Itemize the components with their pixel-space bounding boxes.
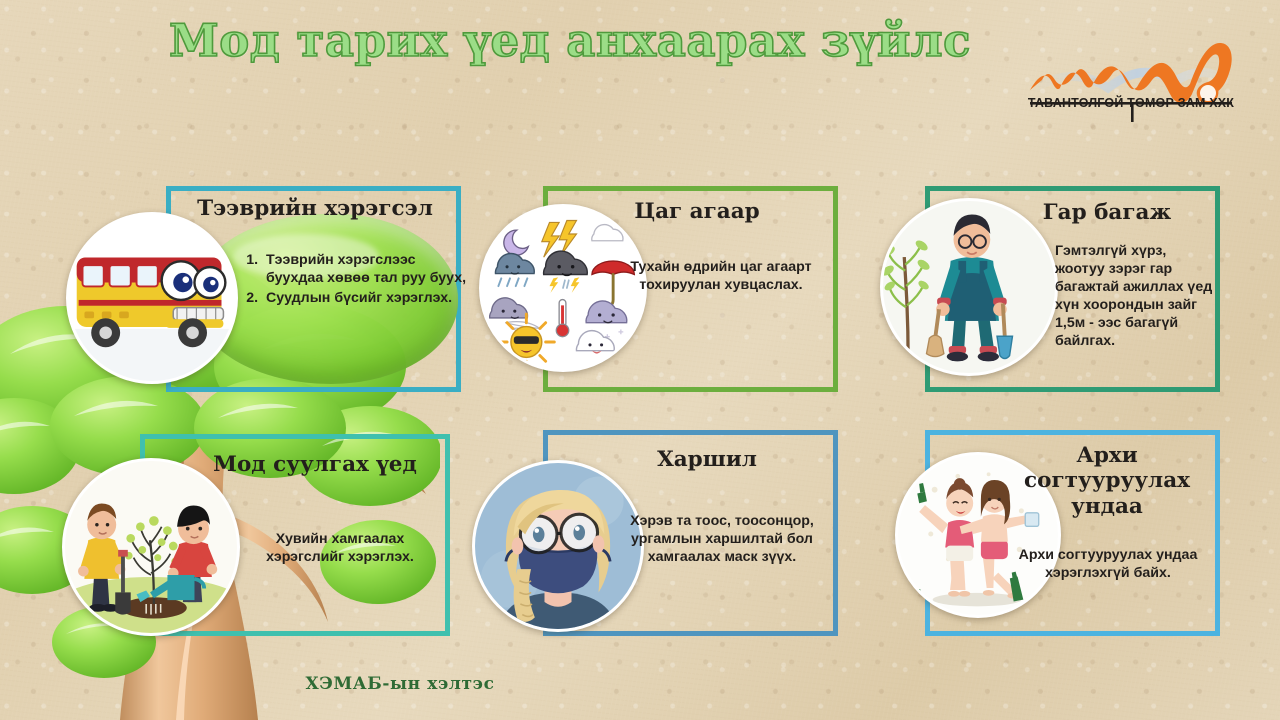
card-title-hand-tools: Гар багаж (1000, 200, 1214, 225)
school-bus-cartoon-photo (66, 212, 238, 384)
card-list-transport: Тээврийн хэрэгслээс буухдаа хөвөө тал ру… (236, 252, 474, 310)
weather-icons-photo (479, 204, 647, 372)
girl-with-face-mask-photo (472, 460, 644, 632)
company-logo-text: ТАВАНТОЛГОЙ ТӨМӨР ЗАМ ХХК (1012, 96, 1250, 110)
page-title: Мод тарих үед анхаарах зүйлс (120, 16, 1020, 66)
card-title-allergy: Харшил (590, 447, 824, 472)
card-title-planting: Мод суулгах үед (186, 452, 444, 477)
card-body-hand-tools: Гэмтэлгүй хүрз, жоотуу зэрэг гар багажта… (1055, 242, 1215, 350)
slide-canvas: Мод тарих үед анхаарах зүйлс ТАВАНТОЛГОЙ… (0, 0, 1280, 720)
card-body-alcohol: Архи согтууруулах ундаа хэрэглэхгүй байх… (1008, 546, 1208, 582)
list-item: Суудлын бүсийг хэрэглэх. (262, 290, 474, 308)
card-title-weather: Цаг агаар (572, 199, 822, 224)
footer-department: ХЭМАБ-ын хэлтэс (0, 674, 1040, 694)
children-planting-tree-photo (62, 458, 240, 636)
list-item: Тээврийн хэрэгслээс буухдаа хөвөө тал ру… (262, 252, 474, 288)
card-body-planting: Хувийн хамгаалах хэрэгслийг хэрэглэх. (244, 530, 436, 566)
card-body-weather: Тухайн өдрийн цаг агаарт тохируулан хувц… (626, 258, 816, 294)
card-title-alcohol: Архи согтууруулах ундаа (1000, 443, 1214, 519)
card-body-allergy: Хэрэв та тоос, тоосонцор, ургамлын харши… (622, 512, 822, 566)
card-title-transport: Тээврийн хэрэгсэл (186, 196, 444, 221)
